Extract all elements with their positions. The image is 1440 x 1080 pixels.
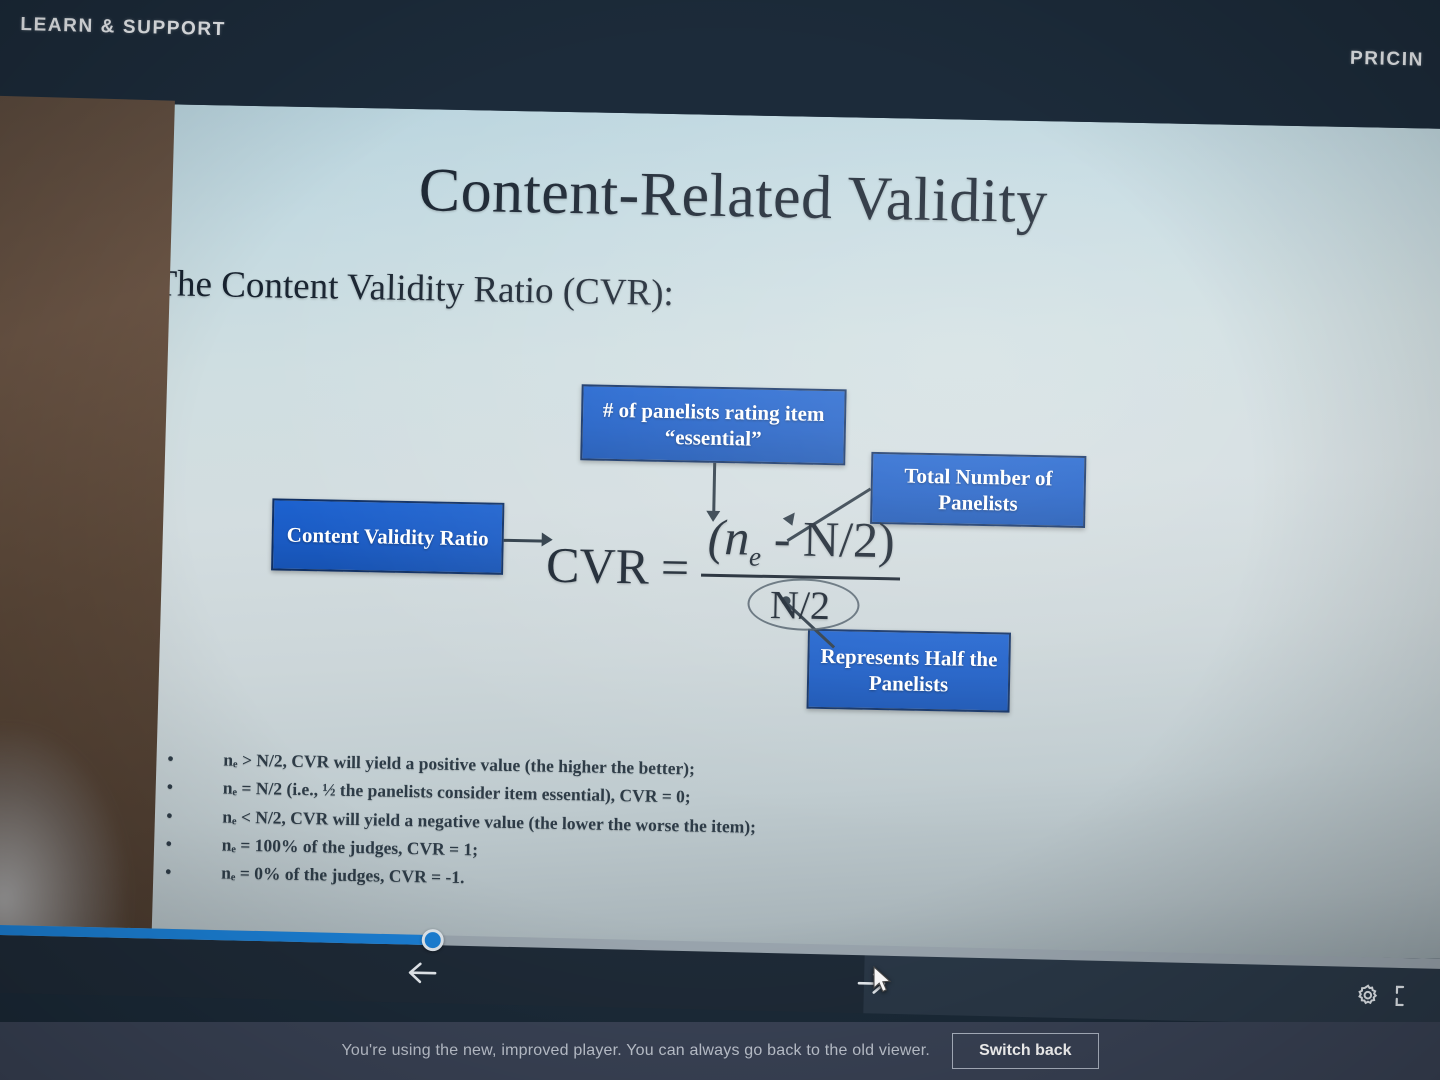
arrow-left-icon [406,960,439,987]
callout-box-panelists-essential: # of panelists rating item “essential” [580,384,846,465]
slide-viewport: Content-Related Validity The Content Val… [84,103,1440,960]
slide-title: Content-Related Validity [98,149,1440,247]
screenshot-root: LEARN & SUPPORT PRICIN Content-Related V… [0,0,1440,1080]
nav-item-learn-and-support[interactable]: LEARN & SUPPORT [20,14,226,41]
formula-lhs: CVR [546,535,650,595]
callout-box-content-validity-ratio: Content Validity Ratio [271,498,504,574]
mouse-cursor [872,966,894,1001]
notice-message: You're using the new, improved player. Y… [341,1042,930,1060]
presentation-slide: Content-Related Validity The Content Val… [84,103,1440,960]
bullet-marker: • [166,801,223,830]
callout-box-represents-half: Represents Half the Panelists [807,629,1011,713]
fullscreen-icon [1395,985,1418,1008]
fullscreen-button[interactable] [1390,978,1421,1015]
leader-line-essential [712,463,715,513]
formula-numerator-lead: (n [707,509,750,566]
cvr-formula: CVR = (ne - N/2) N/2 [545,505,901,631]
bullet-marker: • [166,829,223,858]
formula-fraction: (ne - N/2) N/2 [700,508,901,631]
bullet-marker: • [167,773,224,802]
settings-button[interactable] [1350,977,1385,1014]
formula-numerator-rest: - N/2) [761,510,895,569]
bullet-list: • nₑ > N/2, CVR will yield a positive va… [165,744,1028,902]
player-notice-banner: You're using the new, improved player. Y… [0,1022,1440,1080]
previous-slide-button[interactable] [399,954,446,991]
formula-numerator-subscript: e [749,542,762,572]
callout-box-total-panelists: Total Number of Panelists [870,452,1086,528]
formula-numerator: (ne - N/2) [701,508,901,578]
bullet-marker: • [167,744,224,773]
formula-equals: = [660,537,689,596]
switch-back-button[interactable]: Switch back [952,1033,1098,1069]
gear-icon [1356,983,1381,1008]
nav-item-pricing[interactable]: PRICIN [1350,48,1425,72]
slide-subtitle: The Content Validity Ratio (CVR): [154,262,674,315]
bullet-text: nₑ = 0% of the judges, CVR = -1. [221,859,465,892]
bullet-marker: • [165,858,222,887]
leader-line-cvr [504,539,546,542]
photographed-screen: LEARN & SUPPORT PRICIN Content-Related V… [0,0,1440,1080]
formula-denominator: N/2 [760,578,841,630]
screen-reflection [0,95,175,960]
annotation-ellipse-circle [747,578,860,632]
